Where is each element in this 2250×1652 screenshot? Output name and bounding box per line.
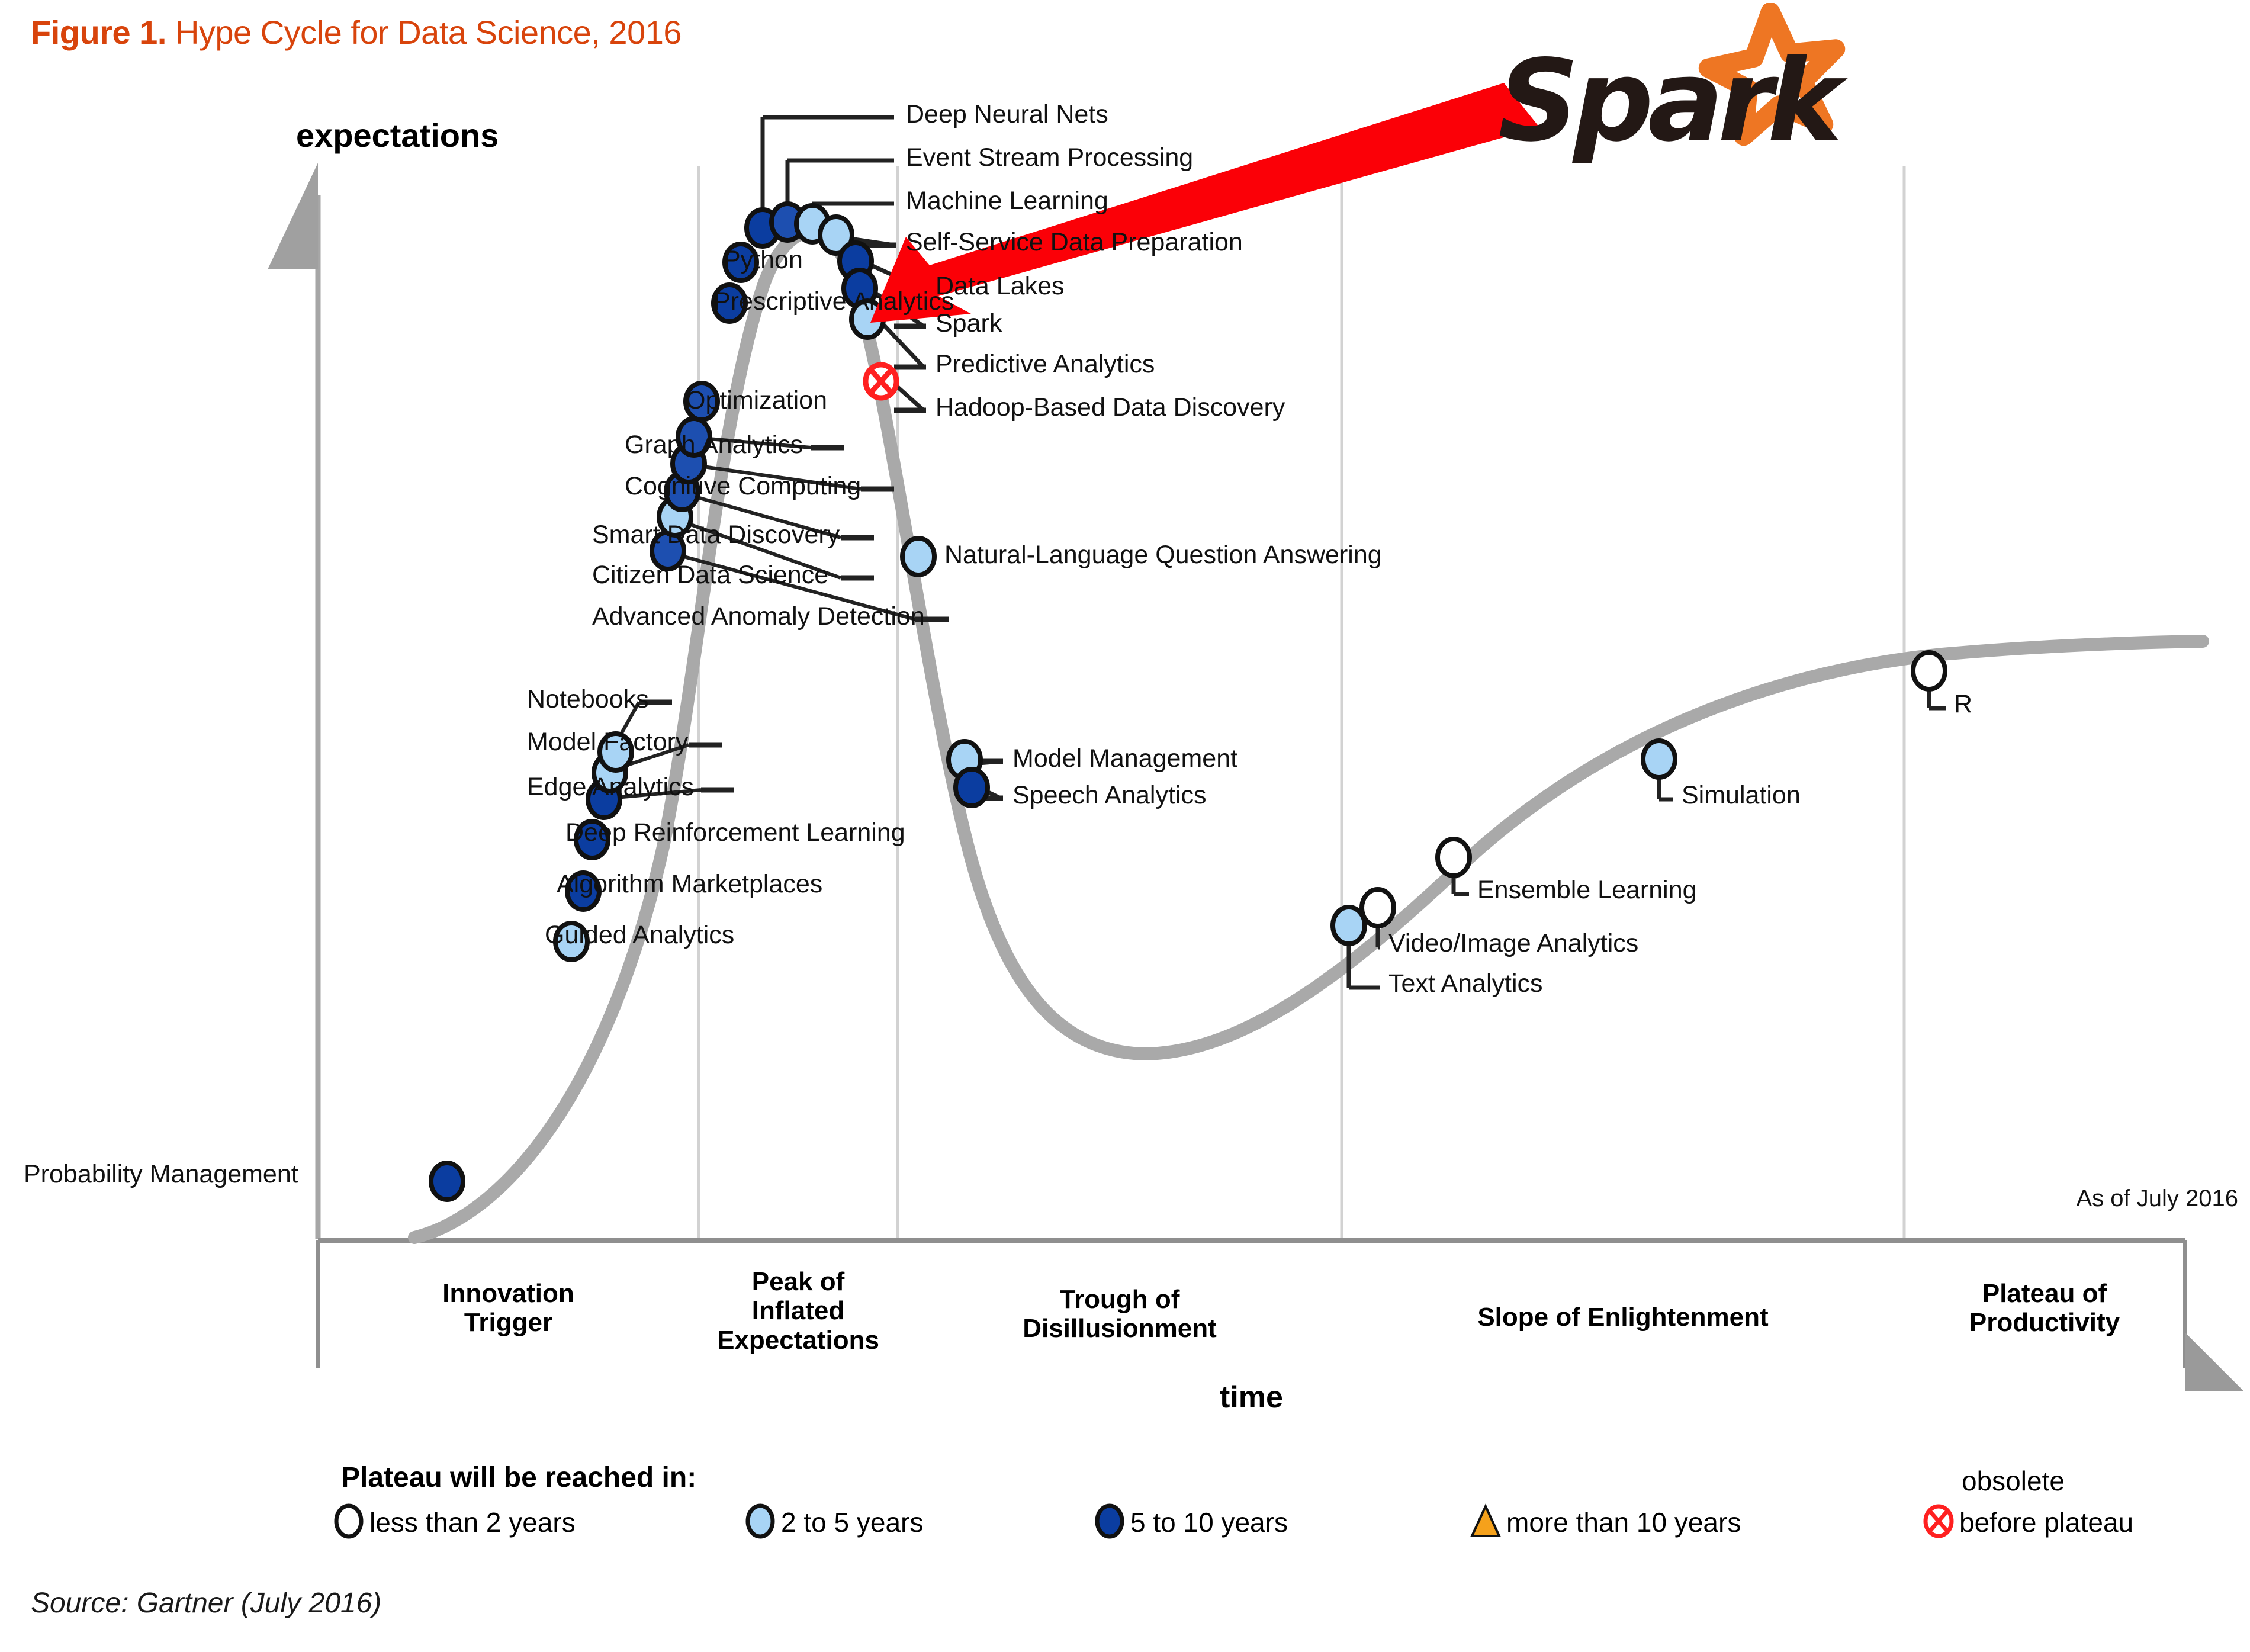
marker-simulation[interactable] xyxy=(1643,741,1675,777)
legend-item-label: 2 to 5 years xyxy=(781,1506,923,1538)
phase-label-plateau-of-productivity: Plateau ofProductivity xyxy=(1904,1279,2185,1338)
phase-label-peak-of-inflated-expectations: Peak ofInflatedExpectations xyxy=(699,1267,898,1355)
label-graph-analytics: Graph Analytics xyxy=(625,432,803,458)
label-model-management: Model Management xyxy=(1012,746,1237,772)
label-advanced-anomaly-detection: Advanced Anomaly Detection xyxy=(592,604,925,629)
label-deep-neural-nets: Deep Neural Nets xyxy=(906,102,1108,127)
label-probability-management: Probability Management xyxy=(24,1162,298,1187)
label-video-image-analytics: Video/Image Analytics xyxy=(1388,931,1638,956)
orange-triangle-icon xyxy=(1468,1503,1503,1539)
y-axis-arrowhead xyxy=(268,163,318,269)
marker-speech-analytics[interactable] xyxy=(956,769,988,806)
label-event-stream-processing: Event Stream Processing xyxy=(906,145,1193,171)
phase-label-innovation-trigger: InnovationTrigger xyxy=(318,1279,699,1338)
label-spark: Spark xyxy=(936,311,1002,336)
label-r: R xyxy=(1954,692,1972,717)
marker-hadoop-based-data-discovery[interactable] xyxy=(866,365,896,398)
legend-item-label: less than 2 years xyxy=(369,1506,576,1538)
label-algorithm-marketplaces: Algorithm Marketplaces xyxy=(557,872,822,897)
leader-segment xyxy=(882,323,924,367)
legend-obsolete-caption: obsolete xyxy=(1962,1465,2065,1497)
marker-ensemble-learning[interactable] xyxy=(1438,839,1470,876)
label-hadoop-based-data-discovery: Hadoop-Based Data Discovery xyxy=(936,395,1285,420)
spark-wordmark: Spark xyxy=(1498,36,1836,166)
label-citizen-data-science: Citizen Data Science xyxy=(592,563,828,588)
label-optimization: Optimization xyxy=(686,388,827,413)
legend-title: Plateau will be reached in: xyxy=(341,1461,696,1494)
label-machine-learning: Machine Learning xyxy=(906,188,1108,214)
label-python: Python xyxy=(724,248,803,273)
label-text-analytics: Text Analytics xyxy=(1388,971,1543,997)
label-natural-language-question-answering: Natural-Language Question Answering xyxy=(944,542,1382,568)
label-predictive-analytics: Predictive Analytics xyxy=(936,352,1155,377)
phase-label-trough-of-disillusionment: Trough ofDisillusionment xyxy=(898,1285,1342,1344)
label-model-factory: Model Factory xyxy=(527,729,688,755)
legend-item-label: before plateau xyxy=(1959,1506,2133,1538)
light-circle-icon xyxy=(743,1503,777,1539)
label-data-lakes: Data Lakes xyxy=(936,274,1065,299)
label-edge-analytics: Edge Analytics xyxy=(527,774,694,800)
legend-item-label: more than 10 years xyxy=(1506,1506,1741,1538)
hype-cycle-figure: Figure 1. Hype Cycle for Data Science, 2… xyxy=(0,0,2250,1652)
label-speech-analytics: Speech Analytics xyxy=(1012,783,1206,808)
label-notebooks: Notebooks xyxy=(527,687,649,712)
dark-circle-icon xyxy=(1092,1503,1127,1539)
label-prescriptive-analytics: Prescriptive Analytics xyxy=(713,289,954,314)
marker-natural-language-question-answering[interactable] xyxy=(902,538,934,575)
label-guided-analytics: Guided Analytics xyxy=(545,923,734,948)
marker-video-image-analytics[interactable] xyxy=(1362,889,1394,926)
label-ensemble-learning: Ensemble Learning xyxy=(1477,878,1697,903)
phase-label-slope-of-enlightenment: Slope of Enlightenment xyxy=(1342,1303,1904,1332)
label-deep-reinforcement-learning: Deep Reinforcement Learning xyxy=(565,820,905,846)
label-smart-data-discovery: Smart Data Discovery xyxy=(592,522,840,548)
open-circle-icon xyxy=(332,1503,366,1539)
x-axis-arrowhead xyxy=(2185,1332,2244,1391)
leader-segment xyxy=(895,385,924,410)
marker-probability-management[interactable] xyxy=(431,1163,463,1200)
legend-item-label: 5 to 10 years xyxy=(1130,1506,1288,1538)
marker-r[interactable] xyxy=(1913,653,1945,689)
label-cognitive-computing: Cognitive Computing xyxy=(625,474,861,499)
label-self-service-data-preparation: Self-Service Data Preparation xyxy=(906,230,1243,255)
red-crossed-circle-icon xyxy=(1921,1503,1956,1539)
label-simulation: Simulation xyxy=(1682,783,1801,808)
